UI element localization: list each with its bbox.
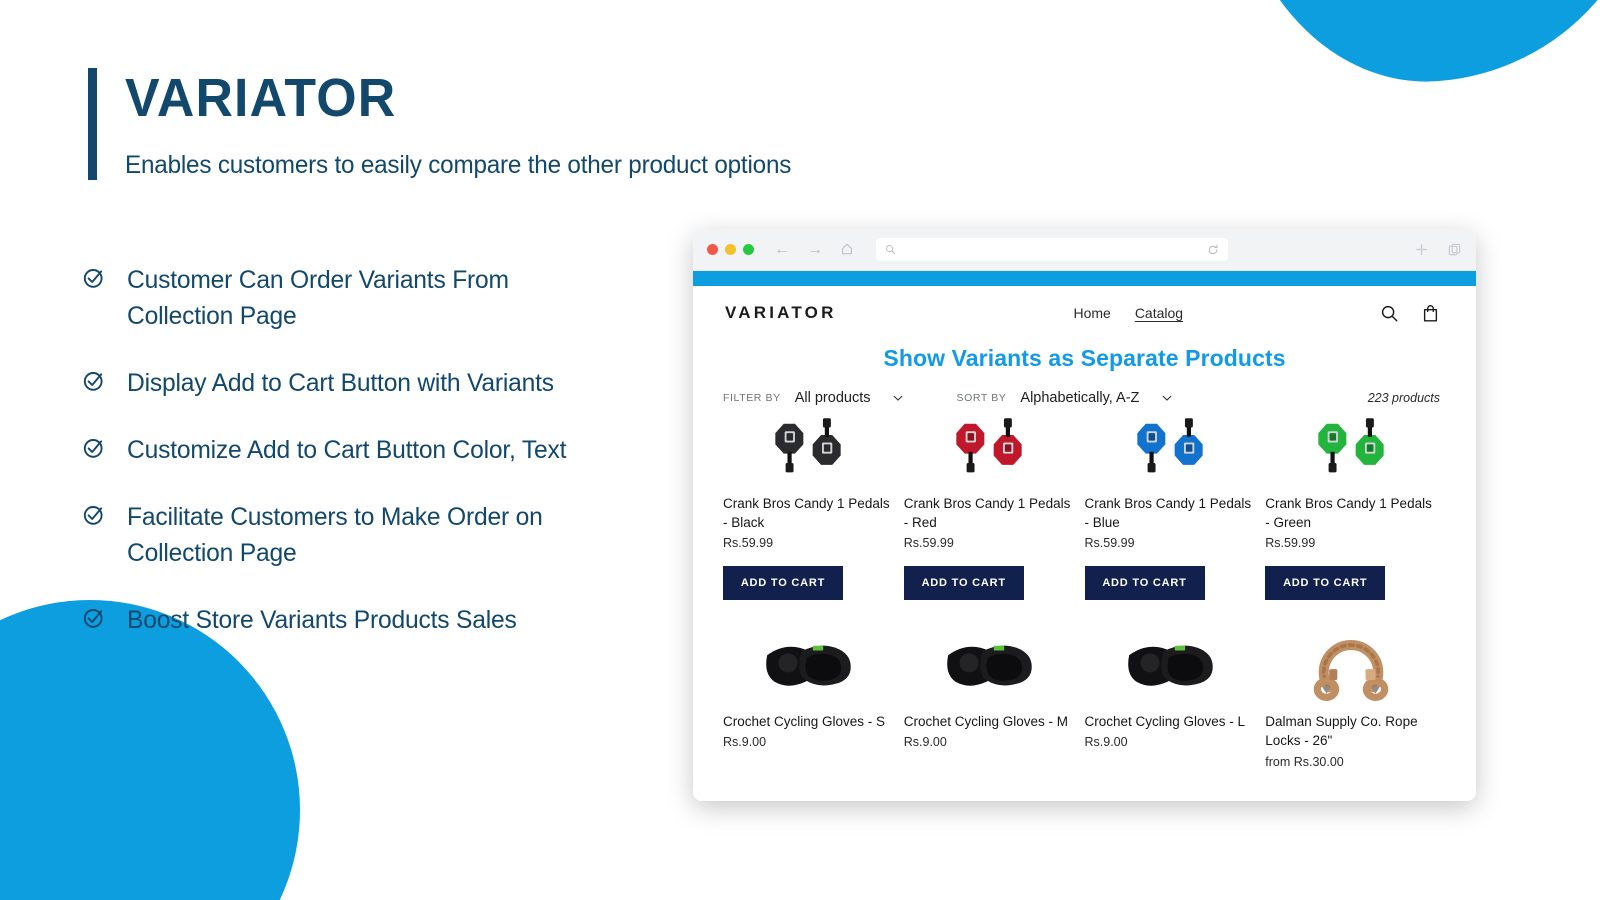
check-circle-icon [82, 503, 106, 527]
window-controls[interactable] [707, 244, 754, 255]
slide-canvas: VARIATOR Enables customers to easily com… [0, 0, 1600, 900]
store-logo[interactable]: VARIATOR [725, 303, 837, 323]
address-bar[interactable] [876, 238, 1228, 261]
add-to-cart-button[interactable]: ADD TO CART [1265, 566, 1385, 600]
pedal-pair-red-image [904, 410, 1075, 488]
product-price: Rs.59.99 [1085, 536, 1256, 550]
cart-icon[interactable] [1421, 304, 1440, 323]
pedal-pair-green-image [1265, 410, 1436, 488]
feature-item: Customize Add to Cart Button Color, Text [82, 432, 682, 468]
feature-item: Boost Store Variants Products Sales [82, 602, 682, 638]
cycling-gloves-black-image [723, 618, 894, 704]
add-to-cart-button[interactable]: ADD TO CART [1085, 566, 1205, 600]
product-price: Rs.9.00 [723, 735, 894, 749]
product-title: Crochet Cycling Gloves - S [723, 712, 894, 731]
product-card[interactable]: Crochet Cycling Gloves - M Rs.9.00 [904, 618, 1085, 768]
home-icon[interactable] [840, 242, 854, 258]
cycling-gloves-black-image [904, 618, 1075, 704]
page-headline: Show Variants as Separate Products [693, 345, 1476, 372]
product-title: Dalman Supply Co. Rope Locks - 26" [1265, 712, 1436, 750]
product-grid-row-2: Crochet Cycling Gloves - S Rs.9.00 Cro [693, 618, 1476, 768]
product-price: Rs.59.99 [904, 536, 1075, 550]
copy-tabs-icon[interactable] [1447, 242, 1462, 257]
minimize-window-button[interactable] [725, 244, 736, 255]
store-nav: Home Catalog [1033, 305, 1183, 321]
product-price: Rs.9.00 [904, 735, 1075, 749]
sort-dropdown[interactable]: Alphabetically, A-Z [1020, 390, 1173, 406]
product-card[interactable]: Crank Bros Candy 1 Pedals - Black Rs.59.… [723, 410, 904, 600]
product-price: Rs.59.99 [1265, 536, 1436, 550]
chevron-down-icon [892, 392, 904, 404]
cycling-gloves-black-image [1085, 618, 1256, 704]
feature-label: Customer Can Order Variants From Collect… [127, 262, 620, 334]
product-title: Crank Bros Candy 1 Pedals - Red [904, 494, 1075, 532]
title-block: VARIATOR Enables customers to easily com… [88, 68, 812, 180]
plus-icon[interactable] [1414, 242, 1429, 257]
product-price: Rs.9.00 [1085, 735, 1256, 749]
filter-by-label: FILTER BY [723, 392, 781, 404]
product-card[interactable]: Crank Bros Candy 1 Pedals - Red Rs.59.99… [904, 410, 1085, 600]
feature-item: Display Add to Cart Button with Variants [82, 365, 682, 401]
filter-bar: FILTER BY All products SORT BY Alphabeti… [693, 372, 1476, 406]
product-title: Crochet Cycling Gloves - L [1085, 712, 1256, 731]
search-icon[interactable] [1380, 304, 1399, 323]
feature-list: Customer Can Order Variants From Collect… [82, 262, 682, 669]
product-card[interactable]: Crank Bros Candy 1 Pedals - Blue Rs.59.9… [1085, 410, 1266, 600]
feature-label: Display Add to Cart Button with Variants [127, 365, 554, 401]
reload-icon[interactable] [1207, 244, 1219, 256]
filter-dropdown-value: All products [795, 390, 871, 406]
pedal-pair-black-image [723, 410, 894, 488]
announcement-bar [693, 271, 1476, 286]
feature-label: Facilitate Customers to Make Order on Co… [127, 499, 620, 571]
check-circle-icon [82, 369, 106, 393]
product-title: Crank Bros Candy 1 Pedals - Black [723, 494, 894, 532]
product-title: Crank Bros Candy 1 Pedals - Green [1265, 494, 1436, 532]
product-price: from Rs.30.00 [1265, 755, 1436, 769]
page-subtitle: Enables customers to easily compare the … [125, 151, 791, 180]
product-grid-row-1: Crank Bros Candy 1 Pedals - Black Rs.59.… [693, 410, 1476, 600]
chevron-down-icon [1161, 392, 1173, 404]
arrow-left-icon[interactable]: ← [774, 242, 790, 258]
product-card[interactable]: Crochet Cycling Gloves - S Rs.9.00 [723, 618, 904, 768]
add-to-cart-button[interactable]: ADD TO CART [723, 566, 843, 600]
check-circle-icon [82, 436, 106, 460]
maximize-window-button[interactable] [743, 244, 754, 255]
check-circle-icon [82, 266, 106, 290]
browser-toolbar: ← → [693, 229, 1476, 271]
left-content: VARIATOR Enables customers to easily com… [0, 0, 700, 900]
arrow-right-icon[interactable]: → [807, 242, 823, 258]
title-accent-bar [88, 68, 97, 180]
feature-item: Customer Can Order Variants From Collect… [82, 262, 682, 334]
check-circle-icon [82, 606, 106, 630]
product-price: Rs.59.99 [723, 536, 894, 550]
feature-label: Customize Add to Cart Button Color, Text [127, 432, 566, 468]
product-title: Crochet Cycling Gloves - M [904, 712, 1075, 731]
browser-window: ← → [693, 229, 1476, 801]
add-to-cart-button[interactable]: ADD TO CART [904, 566, 1024, 600]
store-header: VARIATOR Home Catalog [693, 286, 1476, 335]
decorative-blob-top-right [1232, 0, 1600, 94]
page-title: VARIATOR [125, 70, 784, 127]
filter-dropdown[interactable]: All products [795, 390, 905, 406]
sort-by-label: SORT BY [956, 392, 1006, 404]
product-count: 223 products [1368, 391, 1440, 405]
sort-dropdown-value: Alphabetically, A-Z [1020, 390, 1139, 406]
nav-item-home[interactable]: Home [1073, 305, 1110, 321]
product-card[interactable]: Crank Bros Candy 1 Pedals - Green Rs.59.… [1265, 410, 1446, 600]
feature-item: Facilitate Customers to Make Order on Co… [82, 499, 682, 571]
feature-label: Boost Store Variants Products Sales [127, 602, 517, 638]
pedal-pair-blue-image [1085, 410, 1256, 488]
product-card[interactable]: Crochet Cycling Gloves - L Rs.9.00 [1085, 618, 1266, 768]
store-page: VARIATOR Home Catalog [693, 286, 1476, 801]
product-card[interactable]: Dalman Supply Co. Rope Locks - 26" from … [1265, 618, 1446, 768]
search-icon [885, 244, 896, 255]
rope-lock-tan-image [1265, 618, 1436, 704]
close-window-button[interactable] [707, 244, 718, 255]
product-title: Crank Bros Candy 1 Pedals - Blue [1085, 494, 1256, 532]
nav-item-catalog[interactable]: Catalog [1135, 305, 1183, 321]
